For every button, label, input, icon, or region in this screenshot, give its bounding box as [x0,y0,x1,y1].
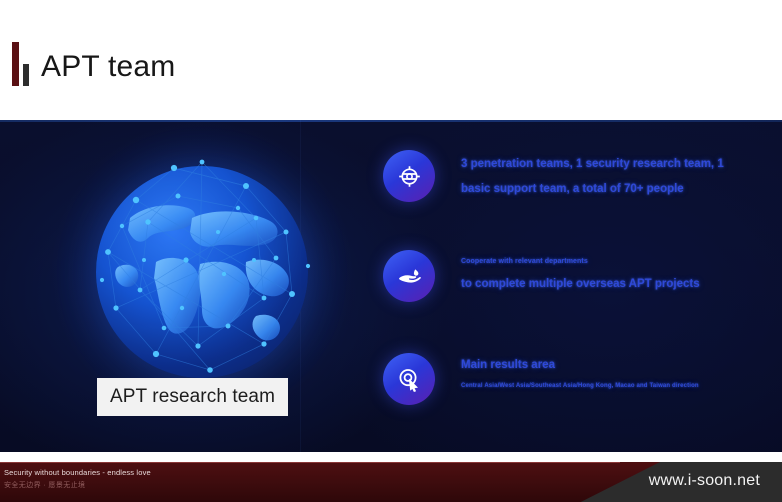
feature-text-2: Cooperate with relevant departments to c… [461,250,700,297]
feature-text-3: Main results area Central Asia/West Asia… [461,353,699,397]
footer-top-hairline [0,462,620,463]
footer-website-url[interactable]: www.i-soon.net [649,472,760,490]
feature-item-1[interactable]: 3 penetration teams, 1 security research… [383,150,763,202]
title-row: APT team [12,42,175,86]
feature-text-1: 3 penetration teams, 1 security research… [461,150,724,202]
feature-line: 3 penetration teams, 1 security research… [461,152,724,177]
accent-bar-short [23,64,29,86]
feature-line: to complete multiple overseas APT projec… [461,272,700,297]
stage-top-edge [0,120,782,122]
feature-line: Cooperate with relevant departments [461,252,700,272]
accent-bar-tall [12,42,19,86]
slide-body: APT research team 3 penetration teams, 1… [0,120,782,452]
page-footer: Security without boundaries - endless lo… [0,462,782,502]
page-header: APT team [0,0,782,120]
globe-network-overlay [78,148,326,396]
footer-slogan: Security without boundaries - endless lo… [4,468,151,477]
target-crosshair-icon [383,150,435,202]
helping-hand-icon [383,250,435,302]
feature-line: basic support team, a total of 70+ peopl… [461,177,724,202]
page-title: APT team [41,48,175,86]
target-pointer-icon [383,353,435,405]
feature-heading: Main results area [461,355,699,375]
feature-item-3[interactable]: Main results area Central Asia/West Asia… [383,353,763,405]
footer-slogan-secondary: 安全无边界 · 愿景无止境 [4,480,85,490]
feature-subtext: Central Asia/West Asia/Southeast Asia/Ho… [461,375,699,397]
globe-graphic [78,148,326,396]
globe-label-text: APT research team [110,386,275,408]
feature-item-2[interactable]: Cooperate with relevant departments to c… [383,250,763,302]
white-gap-divider [0,452,782,462]
globe-label-box: APT research team [97,378,288,416]
